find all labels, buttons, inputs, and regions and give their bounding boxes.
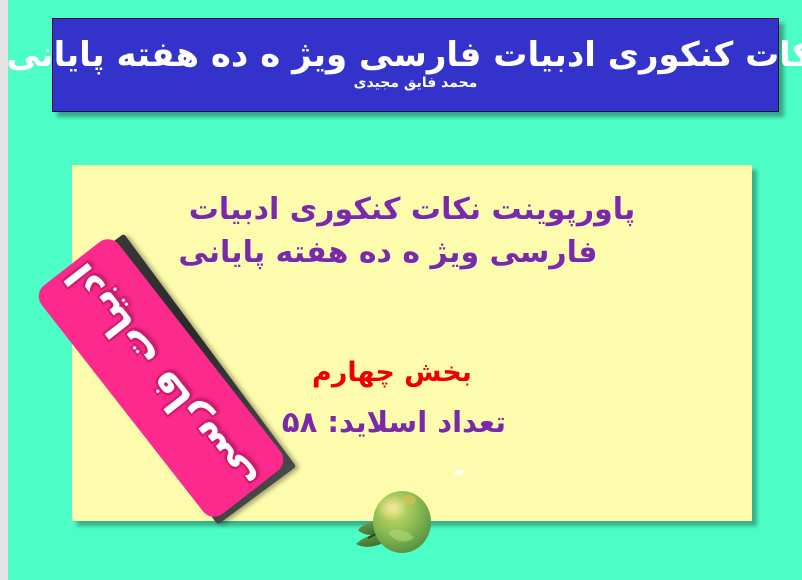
green-apple-icon [352, 478, 438, 562]
title-banner: نکات کنکوری ادبیات فارسی ویژ ه ده هفته پ… [52, 18, 779, 112]
subject-ribbon: ادبیات فارسی [28, 230, 294, 526]
panel-heading-line-1: پاورپوینت نکات کنکوری ادبیات [86, 189, 738, 232]
author-name: محمد فایق مجیدی [354, 76, 478, 91]
sparkle-icon [453, 468, 465, 478]
presentation-slide: نکات کنکوری ادبیات فارسی ویژ ه ده هفته پ… [0, 0, 802, 580]
left-edge-gutter [0, 0, 8, 580]
page-title: نکات کنکوری ادبیات فارسی ویژ ه ده هفته پ… [0, 38, 802, 74]
